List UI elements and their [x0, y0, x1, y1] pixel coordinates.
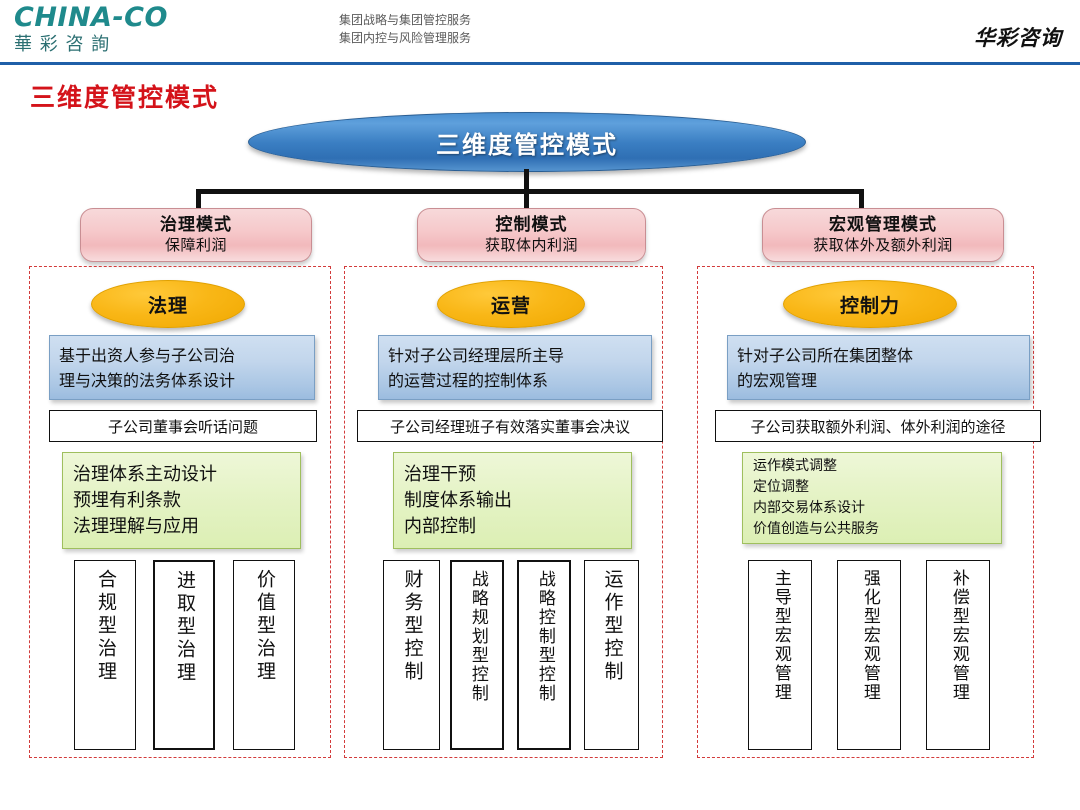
dimension-oval-1: 法理: [91, 280, 245, 328]
type-label: 价值型治理: [254, 569, 274, 684]
action-line: 制度体系输出: [404, 488, 621, 514]
note-text: 子公司获取额外利润、体外利润的途径: [750, 416, 1005, 437]
mode-title: 控制模式: [496, 215, 568, 236]
mode-box-governance: 治理模式 保障利润: [80, 208, 312, 262]
type-box-control-4: 运作型控制: [584, 560, 639, 750]
actions-box-3: 运作模式调整 定位调整 内部交易体系设计 价值创造与公共服务: [742, 452, 1002, 544]
company-logo: CHINA-CO 華 彩 咨 詢: [14, 4, 204, 58]
mode-subtitle: 获取体内利润: [485, 236, 578, 255]
logo-latin-text: CHINA-CO: [14, 4, 204, 32]
mode-box-macro-management: 宏观管理模式 获取体外及额外利润: [762, 208, 1004, 262]
action-line: 定位调整: [753, 477, 991, 498]
note-text: 子公司董事会听话问题: [108, 416, 258, 437]
note-box-2: 子公司经理班子有效落实董事会决议: [357, 410, 663, 442]
actions-box-2: 治理干预 制度体系输出 内部控制: [393, 452, 632, 549]
header-divider: [0, 62, 1080, 65]
mode-subtitle: 获取体外及额外利润: [813, 236, 953, 255]
action-line: 内部控制: [404, 514, 621, 540]
description-box-3: 针对子公司所在集团整体 的宏观管理: [727, 335, 1030, 400]
type-label: 运作型控制: [602, 569, 622, 684]
slide-header: CHINA-CO 華 彩 咨 詢 集团战略与集团管控服务 集团内控与风险管理服务…: [0, 0, 1080, 62]
type-label: 补偿型宏观管理: [949, 569, 967, 702]
tagline-line-2: 集团内控与风险管理服务: [240, 29, 570, 47]
slide-canvas: CHINA-CO 華 彩 咨 詢 集团战略与集团管控服务 集团内控与风险管理服务…: [0, 0, 1080, 810]
type-box-governance-1: 合规型治理: [74, 560, 136, 750]
mode-box-control: 控制模式 获取体内利润: [417, 208, 646, 262]
action-line: 预埋有利条款: [73, 488, 290, 514]
dimension-oval-3: 控制力: [783, 280, 957, 328]
description-box-1: 基于出资人参与子公司治 理与决策的法务体系设计: [49, 335, 315, 400]
type-label: 战略规划型控制: [468, 570, 486, 703]
type-box-governance-3: 价值型治理: [233, 560, 295, 750]
type-box-macro-1: 主导型宏观管理: [748, 560, 812, 750]
note-box-1: 子公司董事会听话问题: [49, 410, 317, 442]
page-title: 三维度管控模式: [30, 78, 219, 114]
dimension-oval-2: 运营: [437, 280, 585, 328]
root-node-label: 三维度管控模式: [436, 125, 618, 160]
description-text: 针对子公司所在集团整体 的宏观管理: [737, 343, 913, 393]
action-line: 价值创造与公共服务: [753, 519, 991, 540]
note-text: 子公司经理班子有效落实董事会决议: [390, 416, 630, 437]
type-box-control-3: 战略控制型控制: [517, 560, 571, 750]
note-box-3: 子公司获取额外利润、体外利润的途径: [715, 410, 1041, 442]
action-line: 法理理解与应用: [73, 514, 290, 540]
actions-box-1: 治理体系主动设计 预埋有利条款 法理理解与应用: [62, 452, 301, 549]
header-tagline: 集团战略与集团管控服务 集团内控与风险管理服务: [240, 11, 570, 47]
action-line: 治理干预: [404, 462, 621, 488]
action-line: 运作模式调整: [753, 456, 991, 477]
description-box-2: 针对子公司经理层所主导 的运营过程的控制体系: [378, 335, 652, 400]
header-brand-text: 华彩咨询: [974, 22, 1062, 52]
mode-subtitle: 保障利润: [165, 236, 227, 255]
connector-drop-3: [859, 189, 864, 210]
type-box-control-2: 战略规划型控制: [450, 560, 504, 750]
action-line: 治理体系主动设计: [73, 462, 290, 488]
action-line: 内部交易体系设计: [753, 498, 991, 519]
dimension-oval-label: 法理: [148, 291, 188, 318]
type-box-governance-2: 进取型治理: [153, 560, 215, 750]
type-label: 强化型宏观管理: [860, 569, 878, 702]
connector-drop-2: [524, 189, 529, 210]
dimension-oval-label: 运营: [491, 291, 531, 318]
logo-chinese-text: 華 彩 咨 詢: [14, 34, 204, 56]
description-text: 基于出资人参与子公司治 理与决策的法务体系设计: [59, 343, 235, 393]
type-box-macro-2: 强化型宏观管理: [837, 560, 901, 750]
mode-title: 宏观管理模式: [829, 215, 937, 236]
description-text: 针对子公司经理层所主导 的运营过程的控制体系: [388, 343, 564, 393]
type-label: 合规型治理: [95, 569, 115, 684]
type-box-control-1: 财务型控制: [383, 560, 440, 750]
type-label: 战略控制型控制: [535, 570, 553, 703]
dimension-oval-label: 控制力: [840, 291, 900, 318]
tagline-line-1: 集团战略与集团管控服务: [240, 11, 570, 29]
connector-drop-1: [196, 189, 201, 210]
type-label: 主导型宏观管理: [771, 569, 789, 702]
connector-bar: [196, 189, 864, 194]
type-label: 进取型治理: [174, 570, 194, 685]
mode-title: 治理模式: [160, 215, 232, 236]
type-label: 财务型控制: [402, 569, 422, 684]
type-box-macro-3: 补偿型宏观管理: [926, 560, 990, 750]
root-node: 三维度管控模式: [248, 112, 806, 172]
